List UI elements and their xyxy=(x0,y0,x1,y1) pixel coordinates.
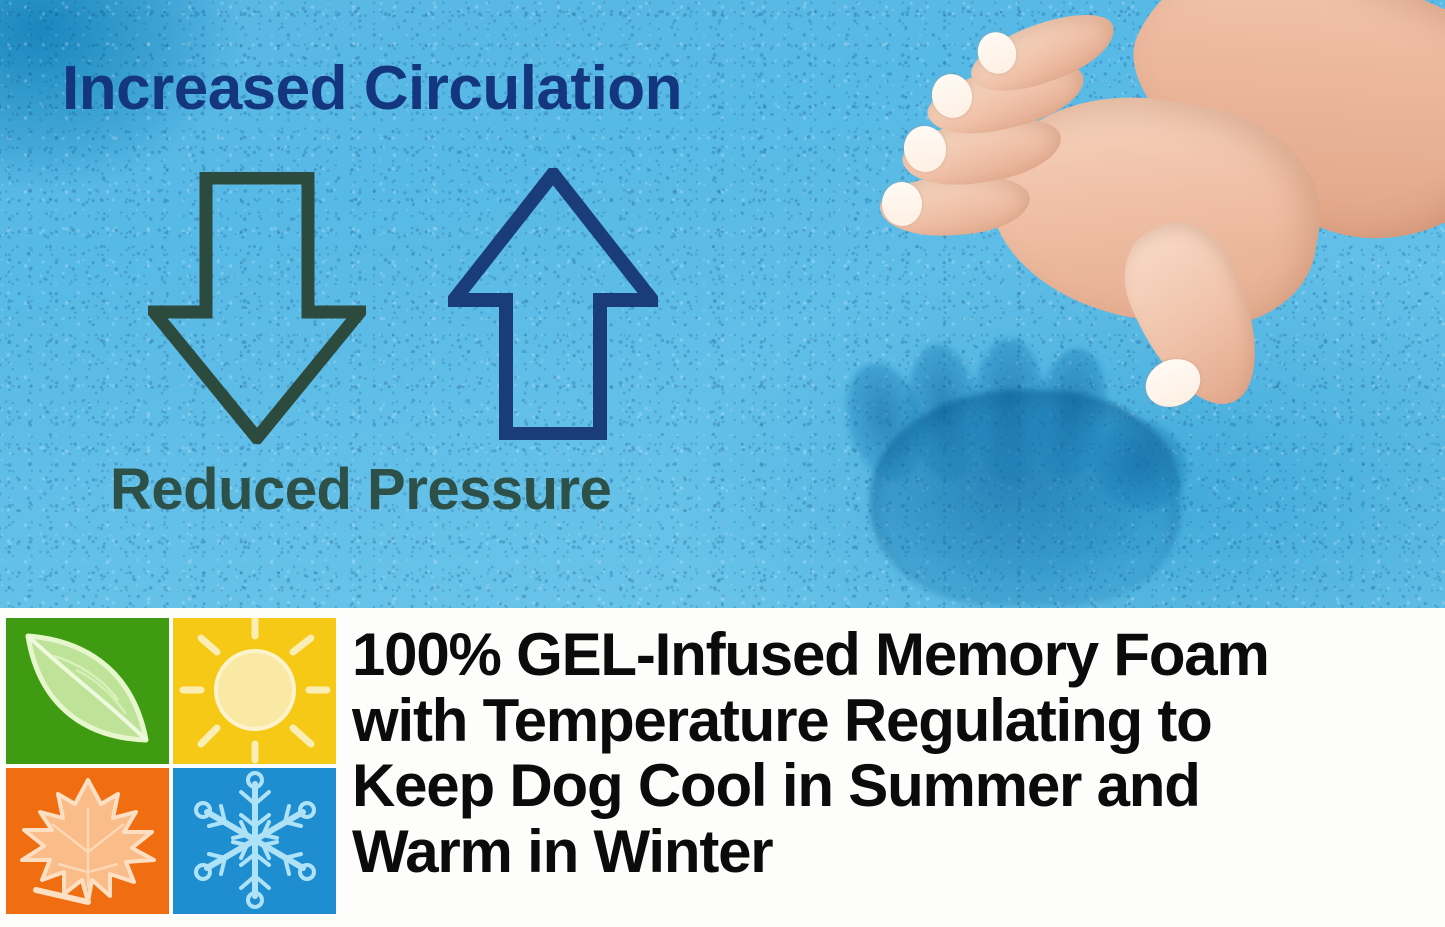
handprint-finger xyxy=(835,355,936,489)
finger-middle xyxy=(921,50,1091,147)
fingernail xyxy=(881,181,924,228)
handprint-finger xyxy=(1076,403,1204,528)
hand-photo xyxy=(840,0,1445,460)
snowflake-icon-tile xyxy=(173,768,336,914)
forearm xyxy=(1096,0,1445,291)
thumb xyxy=(1106,206,1284,424)
reduced-pressure-label: Reduced Pressure xyxy=(110,461,611,519)
handprint-finger xyxy=(972,338,1046,484)
up-arrow-icon xyxy=(448,168,658,440)
sun-icon-tile xyxy=(173,618,336,764)
fingernail xyxy=(972,27,1022,79)
fingernail xyxy=(901,123,950,175)
headline-line-2: with Temperature Regulating to xyxy=(352,688,1437,754)
maple-leaf-icon-tile xyxy=(6,768,169,914)
snowflake-icon xyxy=(173,768,336,914)
finger-index xyxy=(963,0,1124,106)
increased-circulation-label: Increased Circulation xyxy=(62,58,682,120)
maple-leaf-icon xyxy=(6,768,169,914)
foam-photo-panel: Increased Circulation Reduced Pressure xyxy=(0,0,1445,608)
handprint-depression xyxy=(830,330,1260,608)
feature-band: 100% GEL-Infused Memory Foam with Temper… xyxy=(0,608,1445,927)
handprint-finger xyxy=(900,340,988,486)
headline-line-1: 100% GEL-Infused Memory Foam xyxy=(352,622,1437,688)
season-icon-grid xyxy=(6,618,336,917)
feature-headline: 100% GEL-Infused Memory Foam with Temper… xyxy=(352,622,1437,885)
finger-pinky xyxy=(878,170,1032,240)
product-feature-poster: Increased Circulation Reduced Pressure xyxy=(0,0,1445,927)
handprint-palm xyxy=(870,390,1180,605)
sun-icon xyxy=(173,618,336,764)
finger-ring xyxy=(898,108,1066,194)
palm xyxy=(973,73,1336,347)
headline-line-4: Warm in Winter xyxy=(352,819,1437,885)
leaf-icon-tile xyxy=(6,618,169,764)
handprint-finger xyxy=(1027,344,1115,484)
leaf-icon xyxy=(6,618,169,764)
fingernail xyxy=(927,70,976,122)
down-arrow-icon xyxy=(148,172,366,444)
headline-line-3: Keep Dog Cool in Summer and xyxy=(352,753,1437,819)
thumb-nail xyxy=(1138,351,1208,416)
